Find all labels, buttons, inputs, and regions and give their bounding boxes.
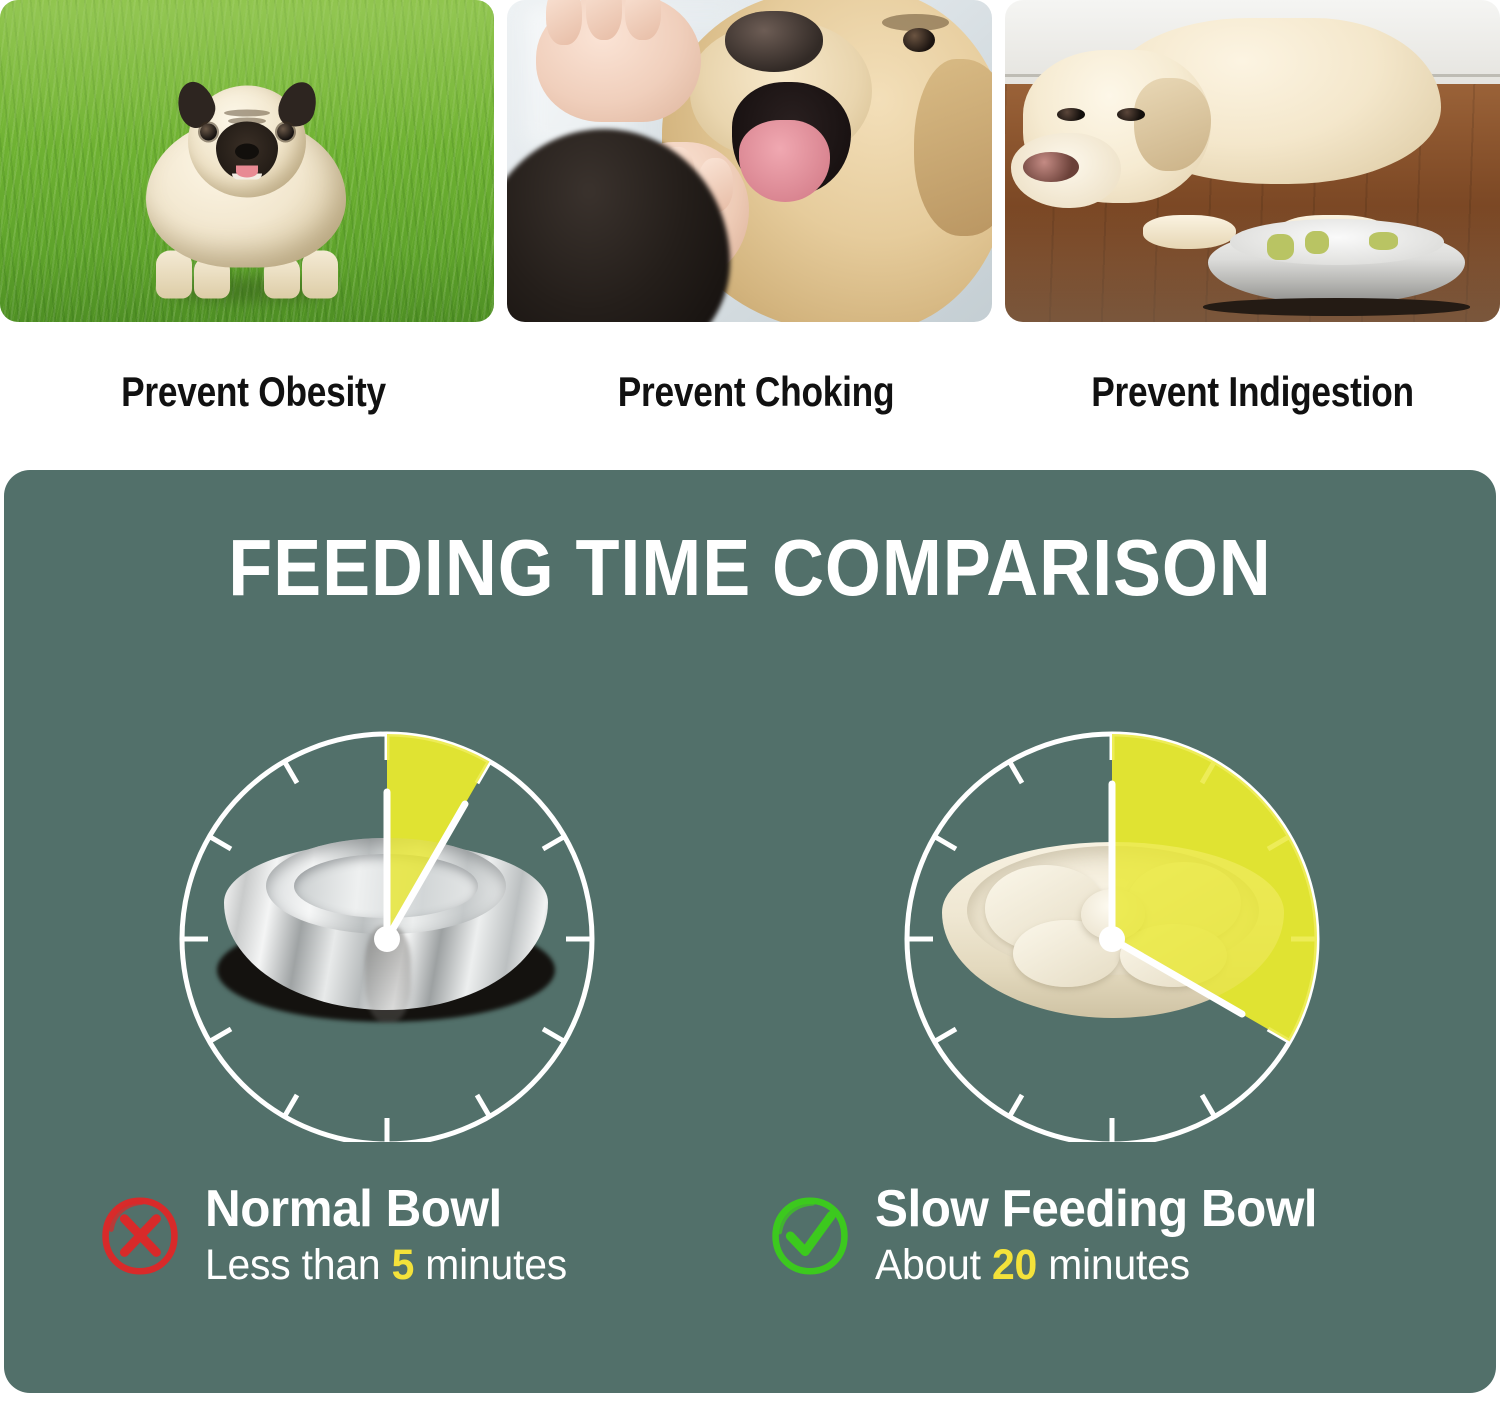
finger bbox=[586, 0, 622, 40]
labrador-nose bbox=[1023, 152, 1078, 182]
legend-text-normal: Normal Bowl Less than 5 minutes bbox=[205, 1182, 586, 1291]
labrador-eye bbox=[1057, 108, 1085, 121]
finger bbox=[546, 0, 582, 45]
pug-tongue bbox=[236, 166, 258, 178]
labrador-eye bbox=[1117, 108, 1145, 121]
pug-nose bbox=[235, 144, 259, 160]
hand-upper bbox=[536, 0, 701, 122]
labrador-illustration bbox=[1015, 13, 1441, 245]
pug-leg bbox=[156, 251, 192, 299]
kibble bbox=[1369, 232, 1398, 249]
fat-pug-illustration bbox=[132, 78, 362, 283]
benefit-tile-indigestion bbox=[1005, 0, 1500, 322]
legend-title-slow: Slow Feeding Bowl bbox=[875, 1182, 1317, 1237]
benefit-captions: Prevent Obesity Prevent Choking Prevent … bbox=[0, 322, 1500, 462]
clock-dial-slow-bowl bbox=[897, 712, 1327, 1142]
finger bbox=[625, 0, 661, 40]
legend-text-slow: Slow Feeding Bowl About 20 minutes bbox=[875, 1182, 1340, 1291]
retriever-nose bbox=[725, 11, 823, 72]
pug-eye bbox=[277, 124, 294, 141]
legend-sub-value: 5 bbox=[392, 1241, 415, 1289]
pug-eye bbox=[200, 124, 217, 141]
bowl-interior bbox=[1230, 219, 1444, 265]
retriever-ear bbox=[914, 59, 992, 236]
legend-sub-suffix: minutes bbox=[1037, 1241, 1190, 1289]
steel-food-bowl bbox=[1203, 219, 1470, 316]
benefit-tile-choking bbox=[507, 0, 992, 322]
clock-hands-slow bbox=[897, 712, 1327, 1142]
legend-normal-bowl: Normal Bowl Less than 5 minutes bbox=[99, 1182, 586, 1291]
check-circle-icon bbox=[769, 1195, 851, 1277]
benefit-caption-choking: Prevent Choking bbox=[547, 322, 965, 462]
legend-sub-prefix: About bbox=[875, 1241, 992, 1289]
kibble bbox=[1305, 231, 1329, 254]
legend-sub-normal: Less than 5 minutes bbox=[205, 1241, 567, 1290]
legend-sub-value: 20 bbox=[992, 1241, 1037, 1289]
pug-leg bbox=[302, 251, 338, 299]
kibble bbox=[1267, 234, 1294, 259]
benefit-caption-indigestion: Prevent Indigestion bbox=[1045, 322, 1461, 462]
legend-slow-bowl: Slow Feeding Bowl About 20 minutes bbox=[769, 1182, 1340, 1291]
comparison-legend: Normal Bowl Less than 5 minutes Slow Fee… bbox=[4, 1182, 1496, 1332]
retriever-eye bbox=[903, 28, 934, 52]
benefit-tile-obesity bbox=[0, 0, 494, 322]
benefit-caption-obesity: Prevent Obesity bbox=[41, 322, 467, 462]
benefits-photo-strip bbox=[0, 0, 1500, 322]
legend-title-normal: Normal Bowl bbox=[205, 1182, 567, 1237]
clock-dial-normal-bowl bbox=[172, 712, 602, 1142]
legend-sub-suffix: minutes bbox=[414, 1241, 567, 1289]
retriever-tongue bbox=[739, 120, 830, 202]
legend-sub-prefix: Less than bbox=[205, 1241, 392, 1289]
panel-title: FEEDING TIME COMPARISON bbox=[79, 522, 1422, 614]
legend-sub-slow: About 20 minutes bbox=[875, 1241, 1317, 1290]
feeding-time-comparison-panel: FEEDING TIME COMPARISON bbox=[4, 470, 1496, 1393]
cross-circle-icon bbox=[99, 1195, 181, 1277]
bowl-rubber-rim bbox=[1203, 298, 1470, 315]
clock-hands-normal bbox=[172, 712, 602, 1142]
pug-wrinkle bbox=[224, 110, 270, 117]
